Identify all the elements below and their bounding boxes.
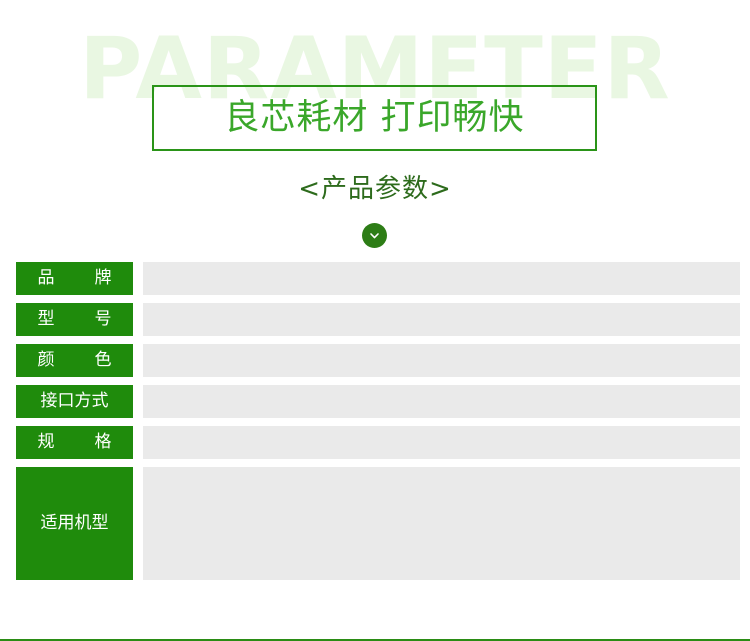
table-row: 型 号 (0, 303, 750, 336)
spec-label-text: 型 号 (38, 311, 112, 328)
spec-label-text: 品 牌 (38, 270, 112, 287)
chevron-down-icon (367, 228, 382, 243)
spec-value-brand (143, 262, 740, 295)
table-row: 适用机型 (0, 467, 750, 580)
table-row: 规 格 (0, 426, 750, 459)
spec-value-compatible-models (143, 467, 740, 580)
spec-label-text: 适用机型 (41, 515, 109, 532)
table-row: 颜 色 (0, 344, 750, 377)
spec-label-color: 颜 色 (16, 344, 133, 377)
expand-button[interactable] (362, 223, 387, 248)
spec-label-spec: 规 格 (16, 426, 133, 459)
spec-label-model: 型 号 (16, 303, 133, 336)
spec-label-brand: 品 牌 (16, 262, 133, 295)
spec-label-interface: 接口方式 (16, 385, 133, 418)
page-title: 良芯耗材 打印畅快 (224, 98, 524, 138)
spec-label-text: 规 格 (38, 434, 112, 451)
spec-label-text: 颜 色 (38, 352, 112, 369)
spec-value-spec (143, 426, 740, 459)
title-box: 良芯耗材 打印畅快 (152, 85, 597, 151)
subtitle: <产品参数> (0, 173, 750, 205)
spec-value-color (143, 344, 740, 377)
parameter-section: PARAMETER 良芯耗材 打印畅快 <产品参数> 品 牌 型 号 (0, 0, 750, 641)
spec-value-model (143, 303, 740, 336)
spec-table: 品 牌 型 号 颜 色 接口方式 规 格 (0, 262, 750, 580)
spec-value-interface (143, 385, 740, 418)
spec-label-text: 接口方式 (41, 393, 109, 410)
table-row: 品 牌 (0, 262, 750, 295)
table-row: 接口方式 (0, 385, 750, 418)
hero-banner: PARAMETER 良芯耗材 打印畅快 <产品参数> (0, 0, 750, 256)
spec-label-compatible-models: 适用机型 (16, 467, 133, 580)
